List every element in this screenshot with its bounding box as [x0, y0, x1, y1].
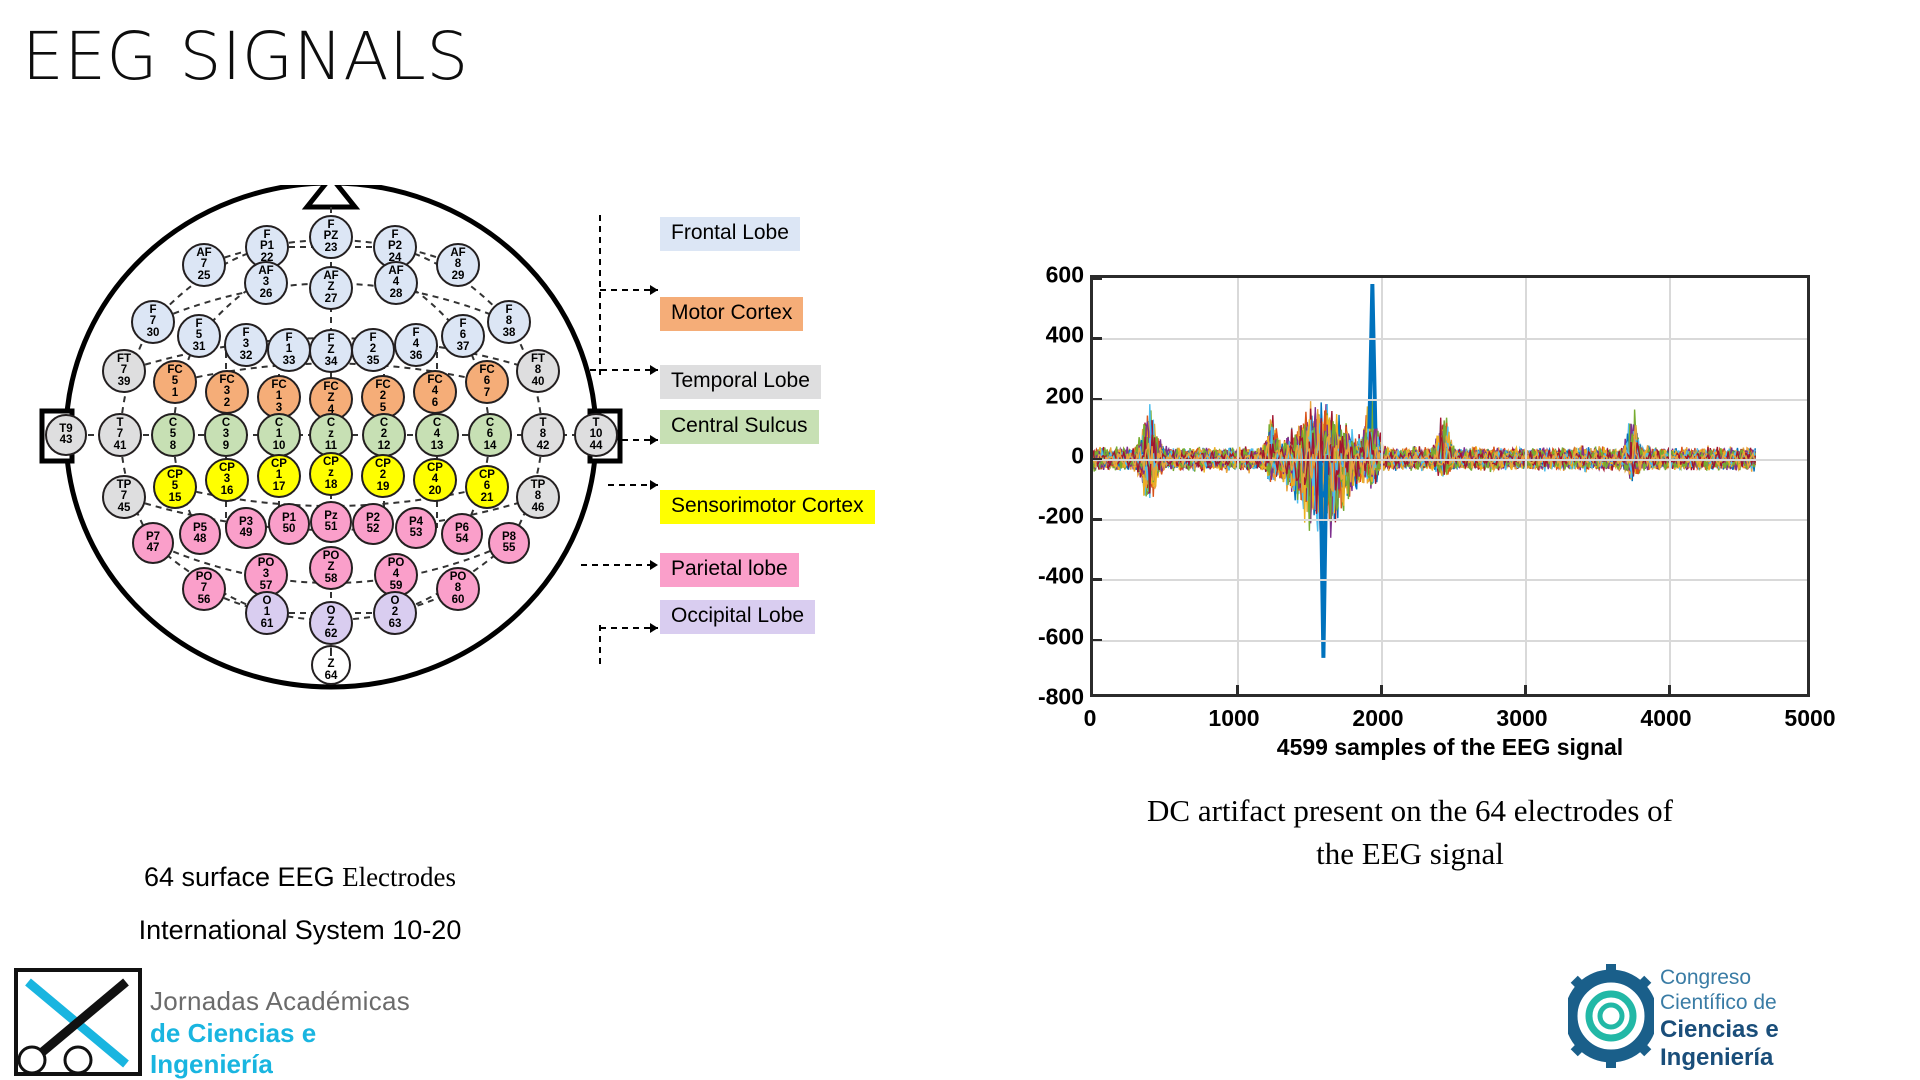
electrode-number: 58: [325, 574, 338, 586]
electrode-fpz[interactable]: FPZ23: [309, 215, 353, 259]
electrode-number: 63: [389, 619, 402, 631]
electrode-c5[interactable]: C58: [151, 413, 195, 457]
electrode-caption-line2: International System 10-20: [20, 915, 580, 946]
electrode-number: 62: [325, 629, 338, 641]
x-tick-mark: [1524, 685, 1527, 694]
electrode-cp3[interactable]: CP316: [205, 458, 249, 502]
y-tick-mark: [1093, 518, 1102, 521]
electrode-cp5[interactable]: CP515: [153, 465, 197, 509]
electrode-f5[interactable]: F531: [177, 314, 221, 358]
electrode-number: 13: [431, 441, 444, 453]
electrode-tp7[interactable]: TP745: [102, 475, 146, 519]
electrode-number: 64: [325, 671, 338, 683]
eeg-trace: [1093, 425, 1755, 516]
y-gridline: [1093, 519, 1807, 521]
caption-serif-part: Electrodes: [342, 862, 456, 892]
electrode-number: 35: [367, 356, 380, 368]
y-tick-label: 0: [1071, 442, 1084, 469]
electrode-number: 10: [273, 441, 286, 453]
x-tick-mark: [1236, 685, 1239, 694]
eeg-trace: [1093, 428, 1755, 511]
electrode-number: 34: [325, 357, 338, 369]
electrode-number: 18: [325, 480, 338, 492]
electrode-number: 56: [198, 595, 211, 607]
legend-sensori: Sensorimotor Cortex: [660, 490, 875, 524]
chart-caption-line1: DC artifact present on the 64 electrodes…: [1147, 793, 1673, 828]
electrode-f2[interactable]: F235: [351, 328, 395, 372]
electrode-p5[interactable]: P548: [179, 513, 221, 555]
electrode-number: 54: [456, 534, 469, 546]
electrode-fc6[interactable]: FC67: [465, 360, 509, 404]
electrode-f3[interactable]: F332: [224, 323, 268, 367]
electrode-f1[interactable]: F133: [267, 328, 311, 372]
jornadas-logo-text-main: Jornadas Académicas: [150, 986, 410, 1017]
eeg-trace: [1093, 412, 1755, 530]
y-gridline: [1093, 579, 1807, 581]
legend-occip: Occipital Lobe: [660, 600, 815, 634]
electrode-t7[interactable]: T741: [98, 413, 142, 457]
caption-sans-part: 64 surface EEG: [144, 862, 342, 892]
electrode-cp2[interactable]: CP219: [361, 454, 405, 498]
electrode-number: 36: [410, 351, 423, 363]
legend-central: Central Sulcus: [660, 410, 819, 444]
electrode-number: 16: [221, 486, 234, 498]
electrode-cp1[interactable]: CP117: [257, 454, 301, 498]
y-tick-mark: [1093, 458, 1102, 461]
chart-caption: DC artifact present on the 64 electrodes…: [1000, 790, 1820, 876]
legend-parietal: Parietal lobe: [660, 553, 799, 587]
electrode-number: 32: [240, 351, 253, 363]
electrode-fz[interactable]: FZ34: [309, 329, 353, 373]
electrode-number: 51: [325, 522, 338, 534]
electrode-number: 47: [147, 543, 160, 555]
electrode-c1[interactable]: C110: [257, 413, 301, 457]
electrode-cpz[interactable]: CPz18: [309, 452, 353, 496]
x-gridline: [1525, 278, 1527, 694]
electrode-t10[interactable]: T1044: [574, 413, 618, 457]
y-tick-label: 400: [1046, 322, 1084, 349]
electrode-fc4[interactable]: FC46: [413, 370, 457, 414]
electrode-number: 60: [452, 595, 465, 607]
electrode-o1[interactable]: O161: [245, 591, 289, 635]
electrode-number: 28: [390, 289, 403, 301]
eeg-trace: [1093, 430, 1755, 510]
y-tick-label: 200: [1046, 382, 1084, 409]
y-gridline: [1093, 399, 1807, 401]
legend-motor: Motor Cortex: [660, 297, 803, 331]
electrode-number: 2: [224, 398, 230, 410]
electrode-number: 41: [114, 441, 127, 453]
ix-logo-icon: [14, 968, 144, 1078]
electrode-number: 29: [452, 271, 465, 283]
jornadas-logo-text-sub: de Ciencias e Ingeniería: [150, 1018, 440, 1080]
electrode-po8[interactable]: PO860: [436, 567, 480, 611]
jornadas-logo: Jornadas Académicas de Ciencias e Ingeni…: [10, 960, 440, 1080]
electrode-fc3[interactable]: FC32: [205, 370, 249, 414]
eeg-trace: [1093, 410, 1755, 543]
electrode-number: 1: [172, 388, 178, 400]
electrode-t9[interactable]: T943: [45, 414, 87, 456]
electrode-p8[interactable]: P855: [488, 522, 530, 564]
eeg-chart: Voltage of the EEG Signal [uV] 600400200…: [1010, 275, 1810, 755]
electrode-number: 42: [537, 441, 550, 453]
electrode-number: 49: [240, 528, 253, 540]
electrode-number: 23: [325, 243, 338, 255]
electrode-c6[interactable]: C614: [468, 413, 512, 457]
congreso-line1: Congreso: [1660, 966, 1751, 990]
electrode-number: 14: [484, 441, 497, 453]
electrode-p1[interactable]: P150: [268, 503, 310, 545]
electrode-af8[interactable]: AF829: [436, 243, 480, 287]
x-tick-label: 0: [1084, 705, 1097, 732]
electrode-number: 11: [325, 441, 337, 453]
electrode-number: 55: [503, 543, 516, 555]
y-tick-label: -600: [1038, 623, 1084, 650]
y-gridline: [1093, 459, 1807, 461]
electrode-map: FP122FPZ23FP224AF725AF326AFZ27AF428AF829…: [20, 185, 640, 705]
electrode-f4[interactable]: F436: [394, 323, 438, 367]
electrode-number: 30: [147, 328, 160, 340]
electrode-iz[interactable]: IZ64: [311, 645, 351, 685]
electrode-number: 43: [60, 435, 73, 447]
electrode-number: 48: [194, 534, 207, 546]
page-title: EEG SIGNALS: [22, 18, 469, 95]
eeg-trace: [1093, 420, 1755, 530]
congreso-line3: Ciencias e: [1660, 1016, 1779, 1044]
electrode-afz[interactable]: AFZ27: [309, 266, 353, 310]
electrode-number: 61: [261, 619, 274, 631]
congreso-logo: Congreso Científico de Ciencias e Ingeni…: [1568, 958, 1898, 1076]
electrode-c4[interactable]: C413: [415, 413, 459, 457]
y-tick-label: -400: [1038, 563, 1084, 590]
electrode-number: 46: [532, 503, 545, 515]
electrode-number: 45: [118, 503, 131, 515]
electrode-number: 8: [170, 441, 176, 453]
electrode-number: 39: [118, 377, 131, 389]
eeg-traces: [1093, 278, 1810, 697]
electrode-number: 44: [590, 441, 603, 453]
electrode-number: 21: [481, 493, 494, 505]
electrode-number: 12: [378, 441, 391, 453]
electrode-number: 52: [367, 524, 380, 536]
gear-circle-icon: [1568, 960, 1654, 1072]
x-gridline: [1381, 278, 1383, 694]
electrode-number: 33: [283, 356, 296, 368]
electrode-number: 50: [283, 524, 296, 536]
x-tick-mark: [1668, 685, 1671, 694]
electrode-p6[interactable]: P654: [441, 513, 483, 555]
y-tick-mark: [1093, 639, 1102, 642]
electrode-f6[interactable]: F637: [441, 314, 485, 358]
y-tick-mark: [1093, 277, 1102, 280]
electrode-number: 40: [532, 377, 545, 389]
y-tick-mark: [1093, 337, 1102, 340]
electrode-ft7[interactable]: FT739: [102, 349, 146, 393]
electrode-number: 17: [273, 482, 286, 494]
electrode-number: 37: [457, 342, 470, 354]
electrode-p3[interactable]: P349: [225, 507, 267, 549]
chart-x-axis-label: 4599 samples of the EEG signal: [1090, 734, 1810, 761]
chart-caption-line2: the EEG signal: [1316, 836, 1504, 871]
electrode-number: 9: [223, 441, 229, 453]
electrode-number: 20: [429, 486, 442, 498]
eeg-trace: [1093, 428, 1755, 513]
legend-frontal: Frontal Lobe: [660, 217, 800, 251]
electrode-pz[interactable]: Pz51: [310, 501, 352, 543]
electrode-af3[interactable]: AF326: [244, 261, 288, 305]
congreso-line4: Ingeniería: [1660, 1044, 1773, 1072]
electrode-poz[interactable]: POZ58: [309, 546, 353, 590]
electrode-f8[interactable]: F838: [487, 300, 531, 344]
electrode-o2[interactable]: O263: [373, 591, 417, 635]
electrode-p2[interactable]: P252: [352, 503, 394, 545]
eeg-trace: [1093, 421, 1755, 520]
electrode-number: 15: [169, 493, 182, 505]
electrode-number: 26: [260, 289, 273, 301]
y-gridline: [1093, 338, 1807, 340]
y-tick-mark: [1093, 398, 1102, 401]
legend-temporal: Temporal Lobe: [660, 365, 821, 399]
electrode-af4[interactable]: AF428: [374, 261, 418, 305]
x-gridline: [1669, 278, 1671, 694]
congreso-line2: Científico de: [1660, 991, 1777, 1015]
y-tick-label: -200: [1038, 503, 1084, 530]
x-tick-mark: [1380, 685, 1383, 694]
electrode-ft8[interactable]: FT840: [516, 349, 560, 393]
electrode-number: 27: [325, 294, 338, 306]
y-gridline: [1093, 640, 1807, 642]
y-tick-mark: [1093, 578, 1102, 581]
nose-triangle-icon: [307, 185, 355, 207]
electrode-number: 6: [432, 398, 438, 410]
x-tick-label: 1000: [1208, 705, 1259, 732]
chart-plot-area: [1090, 275, 1810, 697]
electrode-number: 25: [198, 271, 211, 283]
electrode-oz[interactable]: OZ62: [309, 601, 353, 645]
electrode-fc5[interactable]: FC51: [153, 360, 197, 404]
eeg-trace: [1093, 411, 1755, 530]
electrode-t8[interactable]: T842: [521, 413, 565, 457]
electrode-c2[interactable]: C212: [362, 413, 406, 457]
electrode-caption-line1: 64 surface EEG Electrodes: [20, 862, 580, 893]
electrode-po7[interactable]: PO756: [182, 567, 226, 611]
electrode-number: 38: [503, 328, 516, 340]
electrode-number: 19: [377, 482, 390, 494]
y-tick-label: 600: [1046, 262, 1084, 289]
electrode-af7[interactable]: AF725: [182, 243, 226, 287]
electrode-number: 53: [410, 528, 423, 540]
electrode-c3[interactable]: C39: [204, 413, 248, 457]
x-gridline: [1237, 278, 1239, 694]
electrode-tp8[interactable]: TP846: [516, 475, 560, 519]
electrode-cp4[interactable]: CP420: [413, 458, 457, 502]
electrode-number: 7: [484, 388, 490, 400]
electrode-number: 31: [193, 342, 206, 354]
x-tick-label: 4000: [1640, 705, 1691, 732]
electrode-p7[interactable]: P747: [132, 522, 174, 564]
electrode-f7[interactable]: F730: [131, 300, 175, 344]
x-tick-label: 5000: [1784, 705, 1835, 732]
electrode-cp6[interactable]: CP621: [465, 465, 509, 509]
electrode-p4[interactable]: P453: [395, 507, 437, 549]
y-tick-label: -800: [1038, 684, 1084, 711]
x-tick-label: 3000: [1496, 705, 1547, 732]
electrode-cz[interactable]: Cz11: [309, 413, 353, 457]
x-tick-label: 2000: [1352, 705, 1403, 732]
eeg-trace: [1093, 413, 1755, 532]
